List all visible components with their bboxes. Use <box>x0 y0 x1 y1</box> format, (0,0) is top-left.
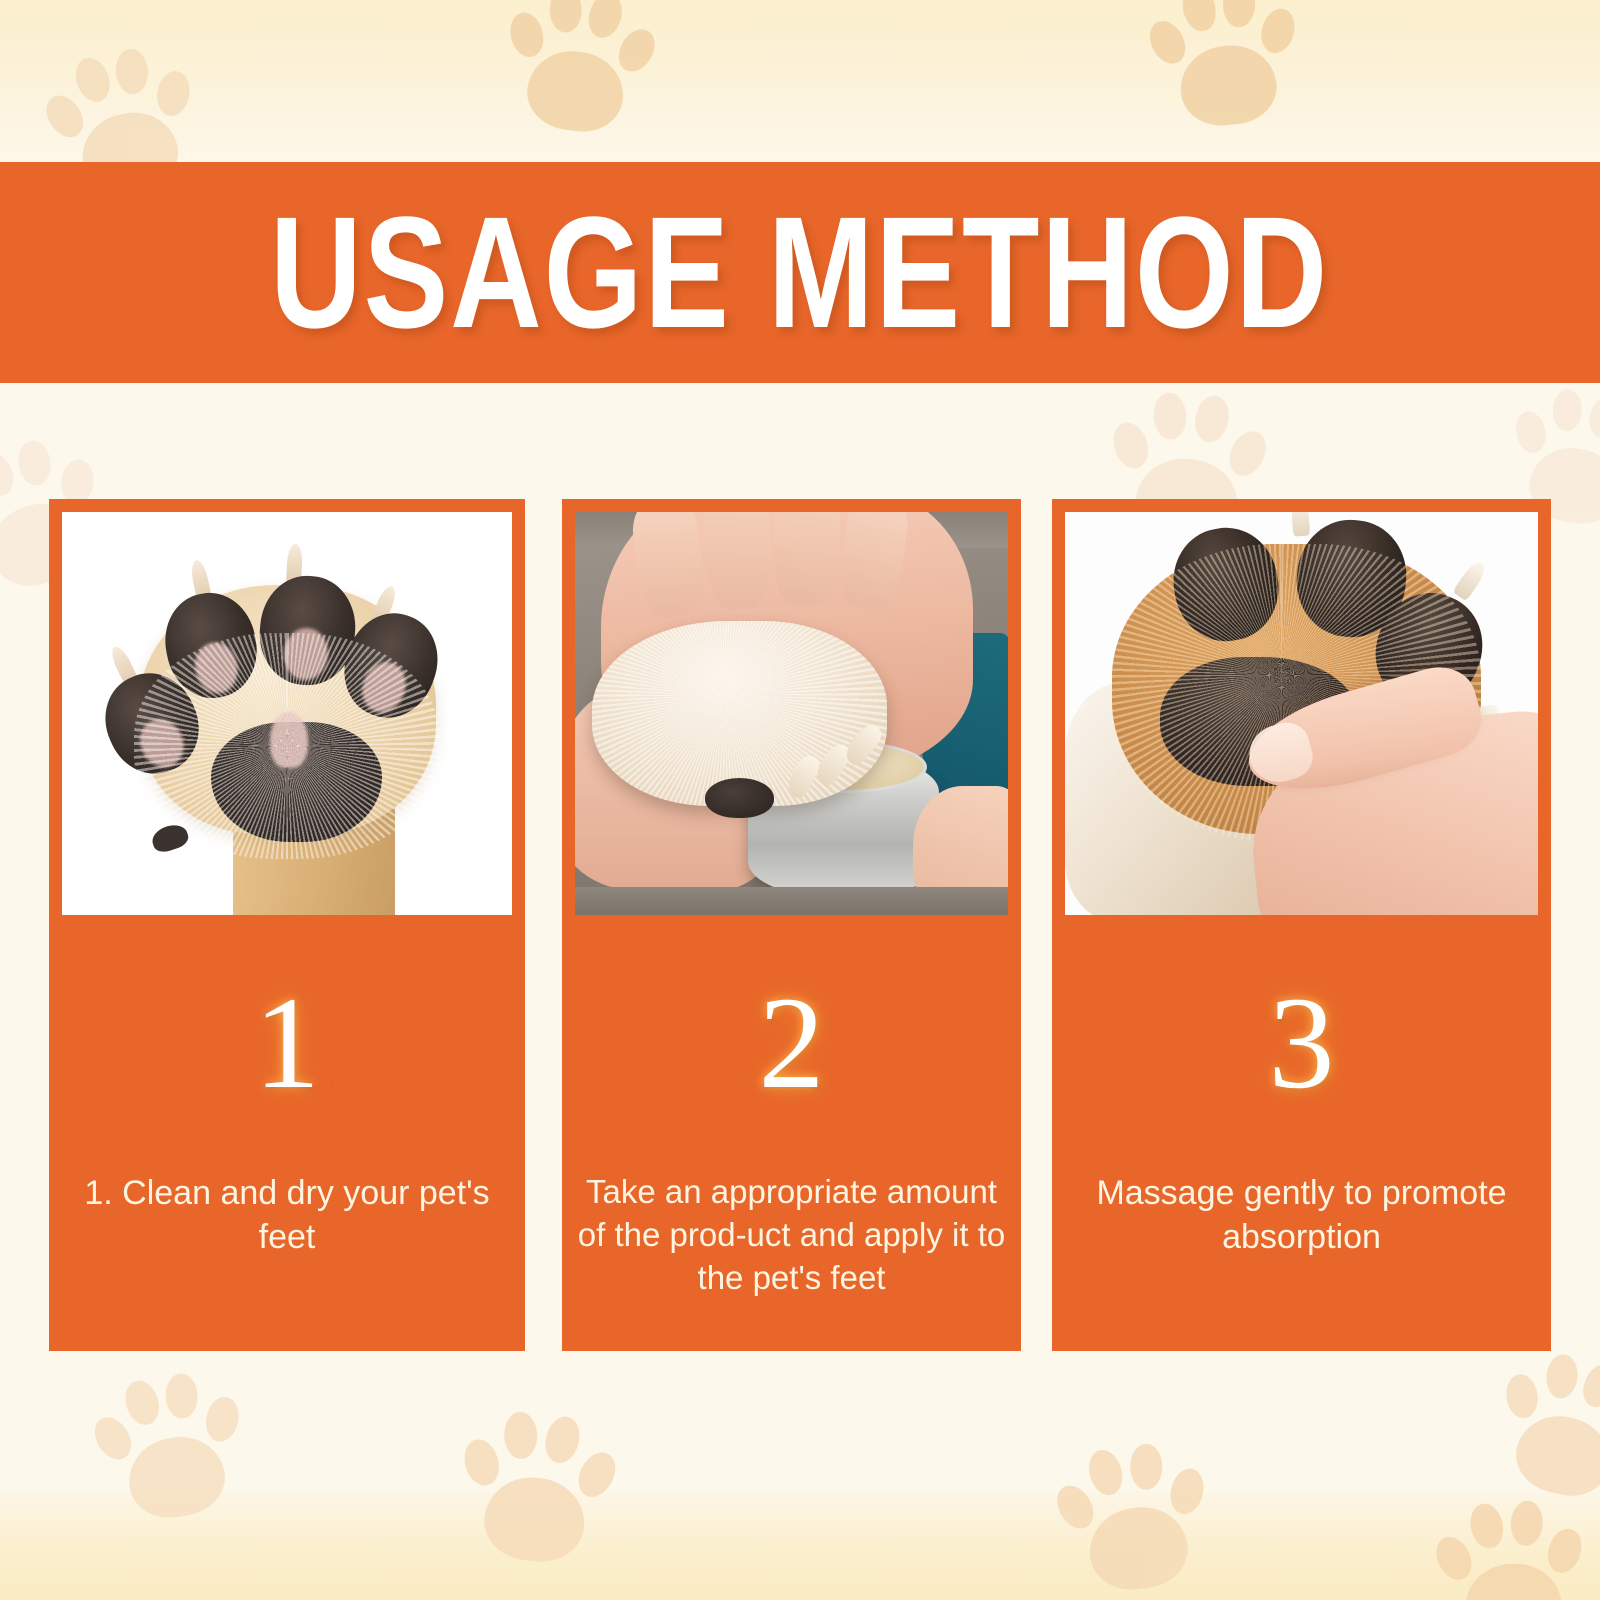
poster-canvas: USAGE METHOD 1 1. Clean and <box>0 0 1600 1600</box>
step-card-1[interactable]: 1 1. Clean and dry your pet's feet <box>49 499 525 1351</box>
paw-pad <box>705 778 774 818</box>
step-card-3[interactable]: 3 Massage gently to promote absorption <box>1052 499 1551 1351</box>
step-number-3: 3 <box>1269 977 1335 1109</box>
paw-claw <box>1291 512 1311 537</box>
step-number-2: 2 <box>759 977 825 1109</box>
steps-container: 1 1. Clean and dry your pet's feet <box>49 499 1551 1351</box>
step-caption-2: Take an appropriate amount of the prod-u… <box>562 1171 1021 1300</box>
step-number-1: 1 <box>254 977 320 1109</box>
step-caption-3: Massage gently to promote absorption <box>1052 1171 1551 1259</box>
step-caption-1: 1. Clean and dry your pet's feet <box>49 1171 525 1259</box>
step-photo-2 <box>575 512 1008 915</box>
step-photo-1 <box>62 512 512 915</box>
title-banner: USAGE METHOD <box>0 162 1600 383</box>
background-band-top <box>0 0 1600 170</box>
background-band-bottom <box>0 1492 1600 1600</box>
paw-fur <box>134 633 440 859</box>
photo-bottom-strip <box>575 887 1008 915</box>
step-card-2[interactable]: 2 Take an appropriate amount of the prod… <box>562 499 1021 1351</box>
page-title: USAGE METHOD <box>271 193 1330 352</box>
step-photo-3 <box>1065 512 1538 915</box>
